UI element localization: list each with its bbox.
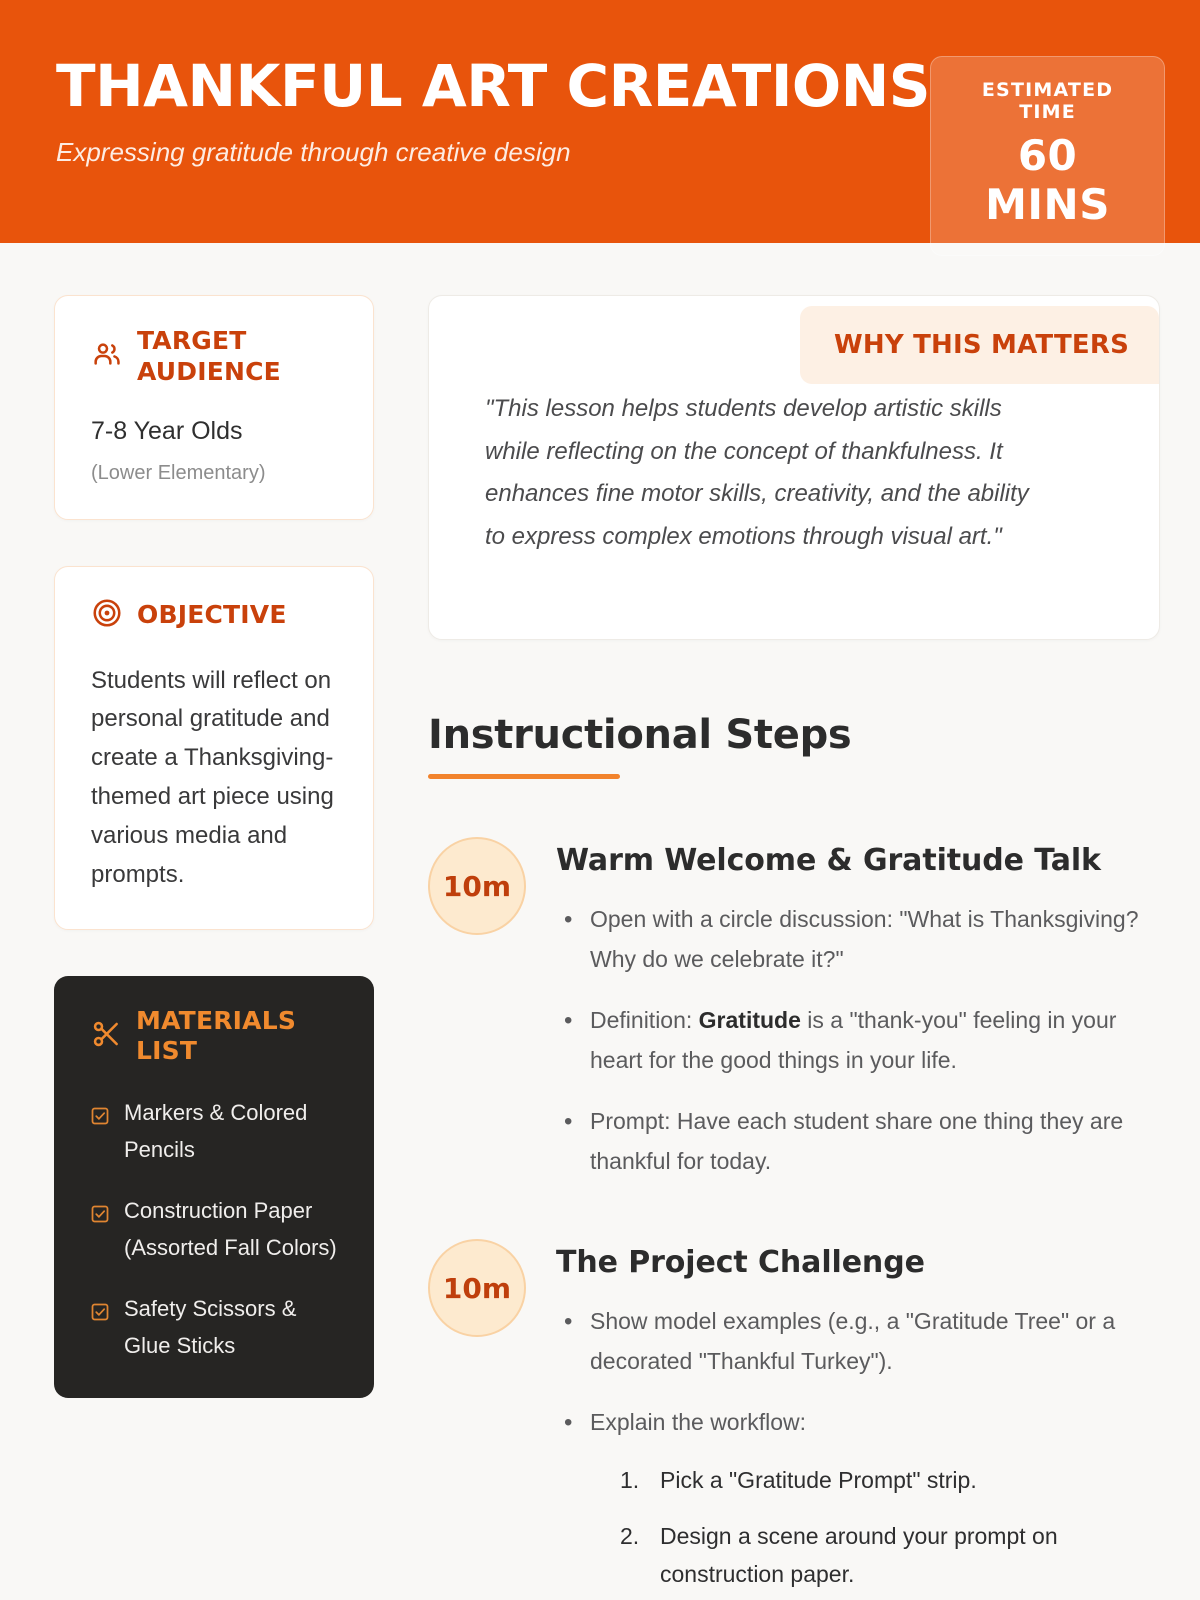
checkbox-checked-icon <box>90 1297 110 1334</box>
objective-text: Students will reflect on personal gratit… <box>91 662 337 895</box>
step-item: 10m The Project Challenge Show model exa… <box>428 1239 1160 1600</box>
list-item: Safety Scissors & Glue Sticks <box>90 1291 338 1365</box>
materials-list-header: MATERIALS LIST <box>90 1006 338 1067</box>
step-duration-badge: 10m <box>428 837 526 935</box>
step-bullet: Prompt: Have each student share one thin… <box>556 1102 1160 1181</box>
estimated-time-value: 60 MINS <box>957 131 1138 229</box>
estimated-time-badge: ESTIMATED TIME 60 MINS <box>930 56 1165 256</box>
step-duration-badge: 10m <box>428 1239 526 1337</box>
materials-list-card: MATERIALS LIST Markers & Colored Pencils <box>54 976 374 1399</box>
materials-items: Markers & Colored Pencils Construction P… <box>90 1095 338 1365</box>
target-audience-value: 7-8 Year Olds <box>91 415 337 448</box>
material-label: Markers & Colored Pencils <box>124 1095 338 1169</box>
step-bullet: Show model examples (e.g., a "Gratitude … <box>556 1302 1160 1381</box>
page-header: THANKFUL ART CREATIONS Expressing gratit… <box>0 0 1200 243</box>
list-item: Markers & Colored Pencils <box>90 1095 338 1169</box>
objective-header: OBJECTIVE <box>91 597 337 634</box>
step-title: The Project Challenge <box>556 1245 1160 1280</box>
why-this-matters-tab: WHY THIS MATTERS <box>800 306 1159 384</box>
bullet-text: Explain the workflow: <box>590 1409 806 1435</box>
step-bullet-list: Open with a circle discussion: "What is … <box>556 900 1160 1181</box>
step-bullet-list: Show model examples (e.g., a "Gratitude … <box>556 1302 1160 1600</box>
step-bullet: Definition: Gratitude is a "thank-you" f… <box>556 1001 1160 1080</box>
step-body: The Project Challenge Show model example… <box>556 1239 1160 1600</box>
objective-card: OBJECTIVE Students will reflect on perso… <box>54 566 374 930</box>
estimated-time-label: ESTIMATED TIME <box>957 79 1138 123</box>
material-label: Safety Scissors & Glue Sticks <box>124 1291 338 1365</box>
page-body: TARGET AUDIENCE 7-8 Year Olds (Lower Ele… <box>0 243 1200 1600</box>
workflow-step: Pick a "Gratitude Prompt" strip. <box>620 1461 1160 1499</box>
instructional-steps-heading: Instructional Steps <box>428 712 1160 758</box>
why-this-matters-quote: "This lesson helps students develop arti… <box>485 388 1045 559</box>
step-body: Warm Welcome & Gratitude Talk Open with … <box>556 837 1160 1181</box>
target-audience-header: TARGET AUDIENCE <box>91 326 337 387</box>
materials-list-title: MATERIALS LIST <box>136 1006 338 1067</box>
step-bullet: Open with a circle discussion: "What is … <box>556 900 1160 979</box>
header-text-group: THANKFUL ART CREATIONS Expressing gratit… <box>56 48 930 168</box>
target-icon <box>91 597 123 634</box>
users-icon <box>91 338 123 375</box>
checkbox-checked-icon <box>90 1101 110 1138</box>
material-label: Construction Paper (Assorted Fall Colors… <box>124 1193 338 1267</box>
sidebar: TARGET AUDIENCE 7-8 Year Olds (Lower Ele… <box>54 295 374 1398</box>
bullet-prefix: Definition: <box>590 1007 699 1033</box>
bullet-term: Gratitude <box>699 1007 801 1033</box>
target-audience-note: (Lower Elementary) <box>91 462 337 485</box>
heading-underline <box>428 774 620 779</box>
target-audience-card: TARGET AUDIENCE 7-8 Year Olds (Lower Ele… <box>54 295 374 520</box>
checkbox-checked-icon <box>90 1199 110 1236</box>
workflow-sub-list: Pick a "Gratitude Prompt" strip. Design … <box>620 1461 1160 1600</box>
workflow-step: Design a scene around your prompt on con… <box>620 1517 1160 1593</box>
page-subtitle: Expressing gratitude through creative de… <box>56 137 930 168</box>
scissors-icon <box>90 1018 122 1055</box>
list-item: Construction Paper (Assorted Fall Colors… <box>90 1193 338 1267</box>
objective-title: OBJECTIVE <box>137 600 287 631</box>
main-content: WHY THIS MATTERS "This lesson helps stud… <box>374 295 1160 1600</box>
target-audience-title: TARGET AUDIENCE <box>137 326 337 387</box>
step-item: 10m Warm Welcome & Gratitude Talk Open w… <box>428 837 1160 1181</box>
why-this-matters-card: WHY THIS MATTERS "This lesson helps stud… <box>428 295 1160 640</box>
page-title: THANKFUL ART CREATIONS <box>56 56 930 117</box>
step-title: Warm Welcome & Gratitude Talk <box>556 843 1160 878</box>
step-bullet: Explain the workflow: Pick a "Gratitude … <box>556 1403 1160 1600</box>
